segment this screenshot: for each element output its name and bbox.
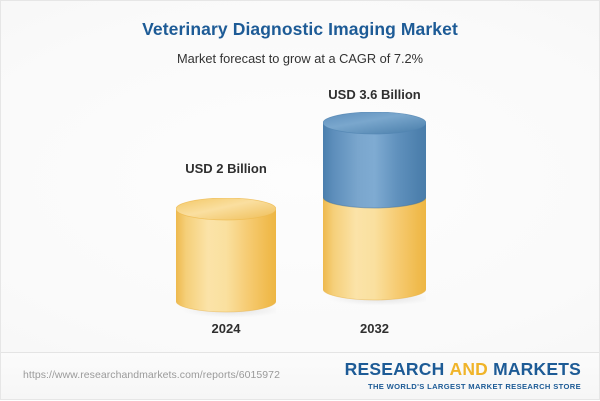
footer: https://www.researchandmarkets.com/repor…: [1, 352, 599, 399]
logo-wordmark: RESEARCH AND MARKETS: [345, 361, 581, 379]
infographic-card: Veterinary Diagnostic Imaging Market Mar…: [0, 0, 600, 400]
logo-tagline: THE WORLD'S LARGEST MARKET RESEARCH STOR…: [345, 383, 581, 391]
cylinder-bar-2024[interactable]: [176, 198, 276, 320]
logo-word-and: AND: [444, 359, 493, 379]
bar-category-label: 2032: [323, 321, 426, 336]
research-and-markets-logo[interactable]: RESEARCH AND MARKETS THE WORLD'S LARGEST…: [345, 361, 581, 390]
cylinder-bar-2032[interactable]: [323, 112, 426, 308]
bar-value-label: USD 2 Billion: [176, 161, 276, 176]
bar-value-label: USD 3.6 Billion: [323, 87, 426, 102]
bar-chart-plot: USD 2 Billion: [1, 1, 600, 401]
logo-word-research: RESEARCH: [345, 359, 445, 379]
bar-category-label: 2024: [176, 321, 276, 336]
report-url-link[interactable]: https://www.researchandmarkets.com/repor…: [23, 369, 280, 381]
logo-word-markets: MARKETS: [493, 359, 581, 379]
